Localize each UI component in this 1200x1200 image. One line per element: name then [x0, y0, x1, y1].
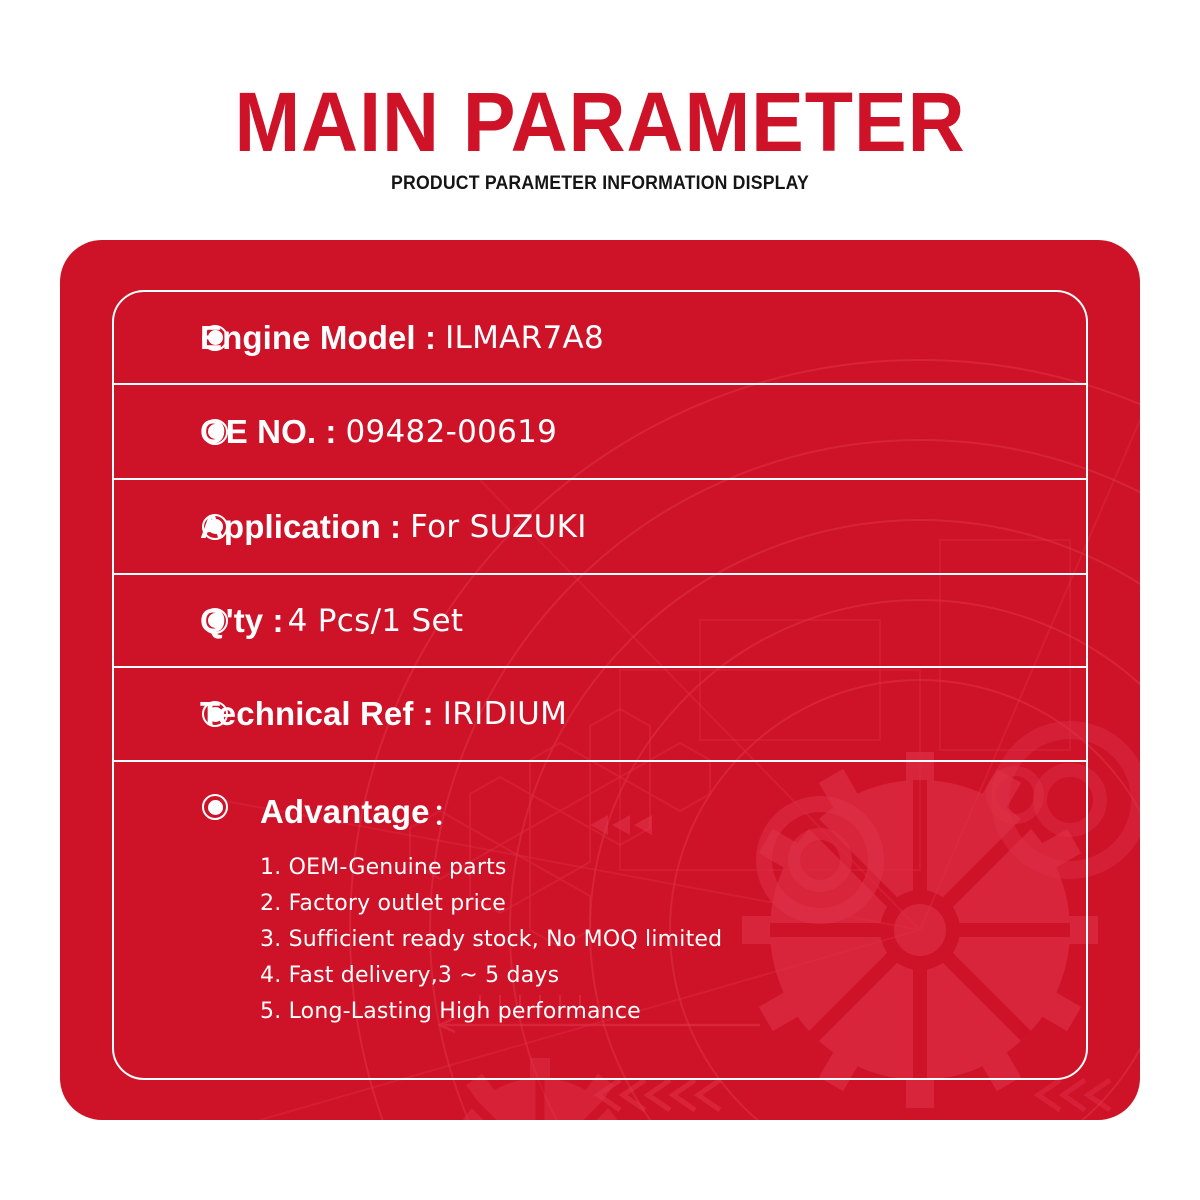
spec-rows: Engine Model : ILMAR7A8 OE NO. : 09482-0… [114, 292, 1086, 1078]
spec-value: 09482-00619 [345, 414, 557, 450]
spec-panel: Engine Model : ILMAR7A8 OE NO. : 09482-0… [112, 290, 1088, 1080]
list-item: 1. OEM-Genuine parts [260, 850, 722, 886]
list-item: 4. Fast delivery,3 ~ 5 days [260, 958, 722, 994]
radio-dot-icon [202, 701, 228, 727]
radio-dot-icon [202, 419, 228, 445]
advantage-colon: ： [432, 790, 462, 834]
page-subtitle: PRODUCT PARAMETER INFORMATION DISPLAY [42, 172, 1158, 196]
spec-row-qty: Q'ty : 4 Pcs/1 Set [114, 575, 1086, 668]
list-item: 3. Sufficient ready stock, No MOQ limite… [260, 922, 722, 958]
list-item: 5. Long-Lasting High performance [260, 994, 722, 1030]
spec-value: ILMAR7A8 [445, 320, 604, 356]
list-item: 2. Factory outlet price [260, 886, 722, 922]
spec-label: Engine Model : [200, 319, 436, 357]
spec-value: IRIDIUM [443, 696, 567, 732]
spec-row-engine-model: Engine Model : ILMAR7A8 [114, 292, 1086, 385]
radio-dot-icon [202, 608, 228, 634]
page-title: MAIN PARAMETER [36, 78, 1164, 166]
page-header: MAIN PARAMETER PRODUCT PARAMETER INFORMA… [0, 78, 1200, 196]
spec-row-application: Application : For SUZUKI [114, 480, 1086, 575]
product-parameter-page: MAIN PARAMETER PRODUCT PARAMETER INFORMA… [0, 0, 1200, 1200]
advantage-heading: Advantage ： [260, 790, 462, 834]
advantage-list: 1. OEM-Genuine parts 2. Factory outlet p… [260, 850, 722, 1030]
advantage-label: Advantage [260, 793, 430, 831]
spec-label: Application : [200, 508, 401, 546]
spec-row-oe-no: OE NO. : 09482-00619 [114, 385, 1086, 480]
spec-value: For SUZUKI [410, 509, 587, 545]
radio-dot-icon [202, 514, 228, 540]
spec-row-technical-ref: Technical Ref : IRIDIUM [114, 668, 1086, 762]
radio-dot-icon [202, 794, 228, 820]
spec-value: 4 Pcs/1 Set [288, 603, 464, 639]
spec-row-advantage: Advantage ： 1. OEM-Genuine parts 2. Fact… [114, 762, 1086, 1078]
radio-dot-icon [202, 325, 228, 351]
parameter-card: Engine Model : ILMAR7A8 OE NO. : 09482-0… [60, 240, 1140, 1120]
spec-label: Technical Ref : [200, 695, 434, 733]
